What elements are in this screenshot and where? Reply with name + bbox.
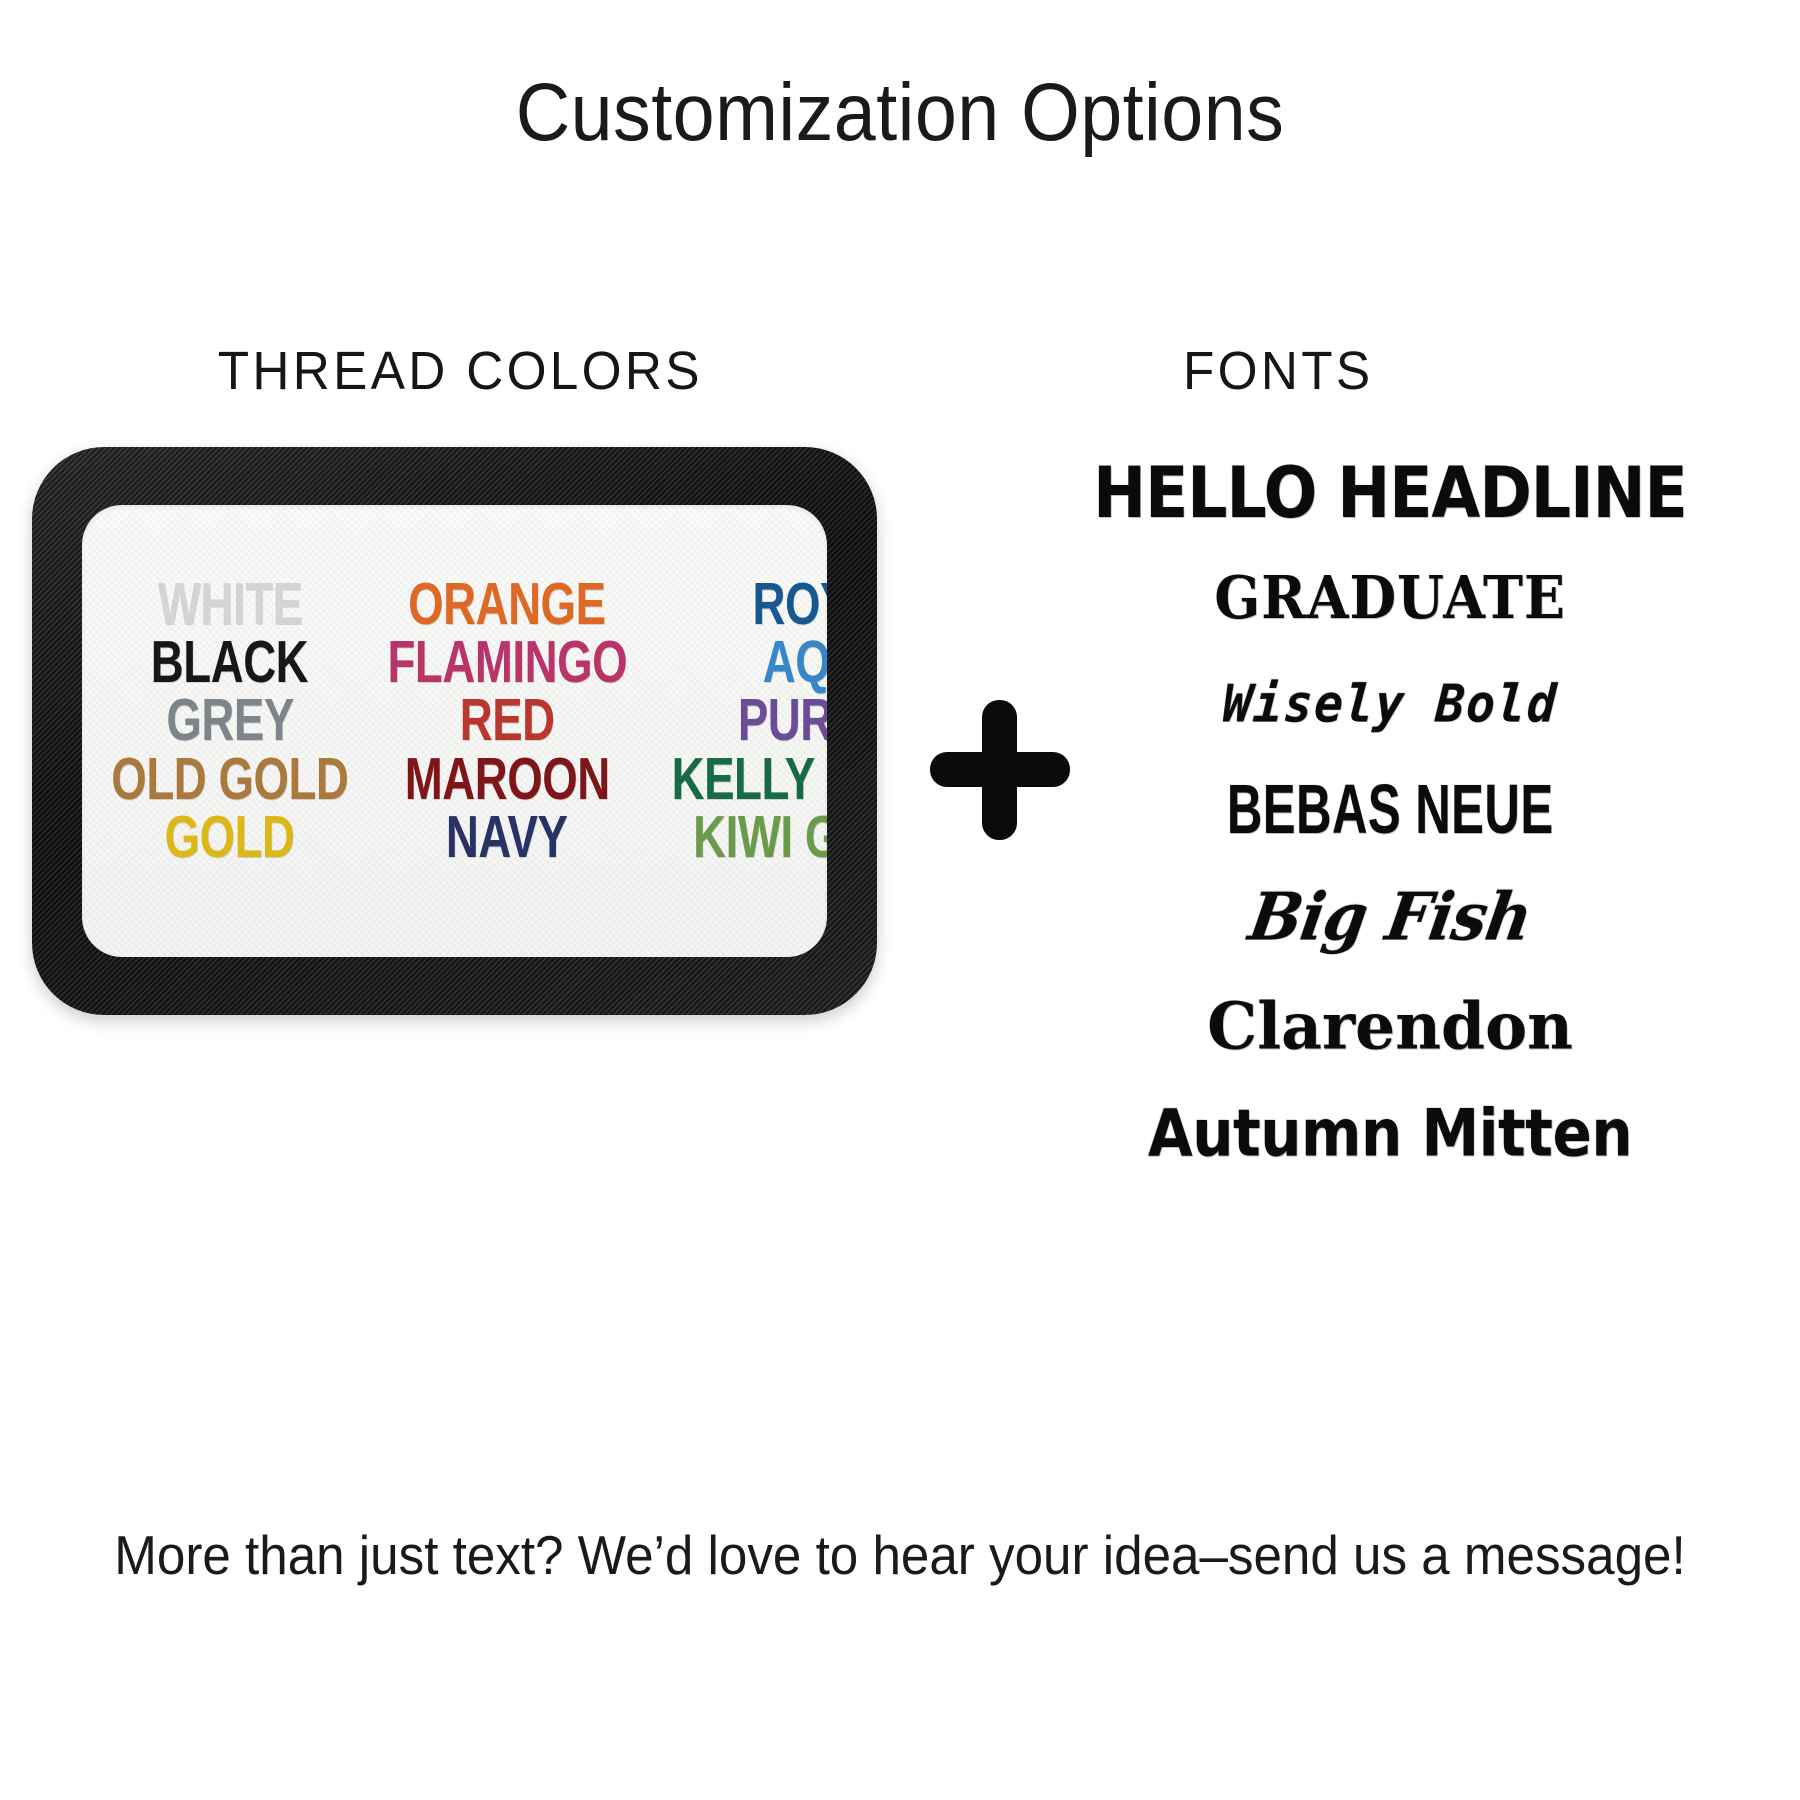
thread-color-column: ORANGE FLAMINGO RED MAROON NAVY	[368, 577, 647, 866]
thread-swatch-aqua: AQUA	[763, 632, 827, 695]
thread-colors-heading: THREAD COLORS	[218, 340, 703, 402]
thread-color-column: ROYAL AQUA PURPLE KELLY GREEN KIWI GREEN	[646, 577, 827, 866]
thread-swatch-royal: ROYAL	[753, 574, 827, 637]
font-samples-list: HELLO HEADLINE GRADUATE Wisely Bold BEBA…	[1010, 440, 1770, 1186]
thread-swatch-kiwi-green: KIWI GREEN	[693, 806, 827, 869]
thread-swatch-white: WHITE	[157, 574, 302, 637]
thread-swatch-flamingo: FLAMINGO	[387, 632, 627, 695]
page-title: Customization Options	[72, 66, 1728, 160]
thread-swatch-grey: GREY	[166, 690, 293, 753]
footer-caption: More than just text? We’d love to hear y…	[63, 1523, 1737, 1587]
thread-color-column: WHITE BLACK GREY OLD GOLD GOLD	[92, 577, 368, 866]
thread-swatch-navy: NAVY	[446, 806, 568, 869]
thread-color-grid: WHITE BLACK GREY OLD GOLD GOLD ORANGE FL…	[82, 577, 827, 866]
thread-swatch-old-gold: OLD GOLD	[111, 748, 348, 811]
patch-twill-face: WHITE BLACK GREY OLD GOLD GOLD ORANGE FL…	[82, 505, 827, 957]
thread-swatch-orange: ORANGE	[408, 574, 605, 637]
thread-swatch-maroon: MAROON	[404, 748, 609, 811]
fonts-heading: FONTS	[1183, 340, 1373, 402]
font-sample-hello-headline: HELLO HEADLINE	[1093, 433, 1686, 554]
font-sample-bebas-neue: BEBAS NEUE	[1227, 750, 1554, 871]
font-sample-wisely-bold: Wisely Bold	[1219, 646, 1561, 763]
font-sample-clarendon: Clarendon	[1207, 971, 1573, 1081]
font-sample-graduate: GRADUATE	[1214, 543, 1566, 652]
font-sample-big-fish: Big Fish	[1241, 859, 1540, 976]
font-sample-autumn-mitten: Autumn Mitten	[1148, 1074, 1632, 1193]
thread-swatch-red: RED	[460, 690, 555, 753]
thread-color-patch: WHITE BLACK GREY OLD GOLD GOLD ORANGE FL…	[32, 447, 877, 1015]
thread-swatch-kelly-green: KELLY GREEN	[672, 748, 827, 811]
thread-swatch-purple: PURPLE	[738, 690, 827, 753]
thread-swatch-black: BLACK	[151, 632, 308, 695]
thread-swatch-gold: GOLD	[165, 806, 295, 869]
